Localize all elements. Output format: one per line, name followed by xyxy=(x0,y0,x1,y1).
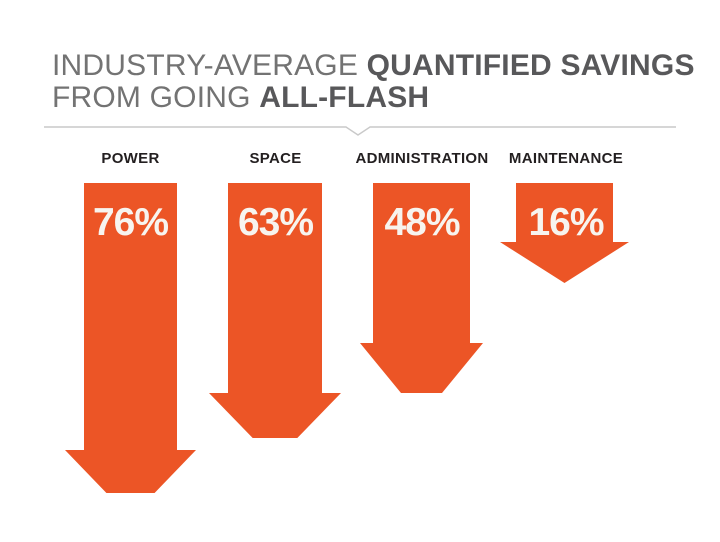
arrow-space: 63% xyxy=(203,183,348,438)
column-label-administration: ADMINISTRATION xyxy=(348,150,496,167)
infographic-canvas: INDUSTRY-AVERAGE QUANTIFIED SAVINGS FROM… xyxy=(0,0,720,542)
arrow-administration: 48% xyxy=(348,183,496,393)
column-label-power: POWER xyxy=(58,150,203,167)
value-maintenance: 16% xyxy=(496,203,636,243)
arrow-maintenance: 16% xyxy=(496,183,636,293)
value-administration: 48% xyxy=(348,203,496,243)
column-label-space: SPACE xyxy=(203,150,348,167)
arrow-power: 76% xyxy=(58,183,203,493)
arrow-columns: POWER 76% SPACE 63% ADMINISTRATION xyxy=(0,0,720,542)
value-space: 63% xyxy=(203,203,348,243)
column-label-maintenance: MAINTENANCE xyxy=(496,150,636,167)
value-power: 76% xyxy=(58,203,203,243)
